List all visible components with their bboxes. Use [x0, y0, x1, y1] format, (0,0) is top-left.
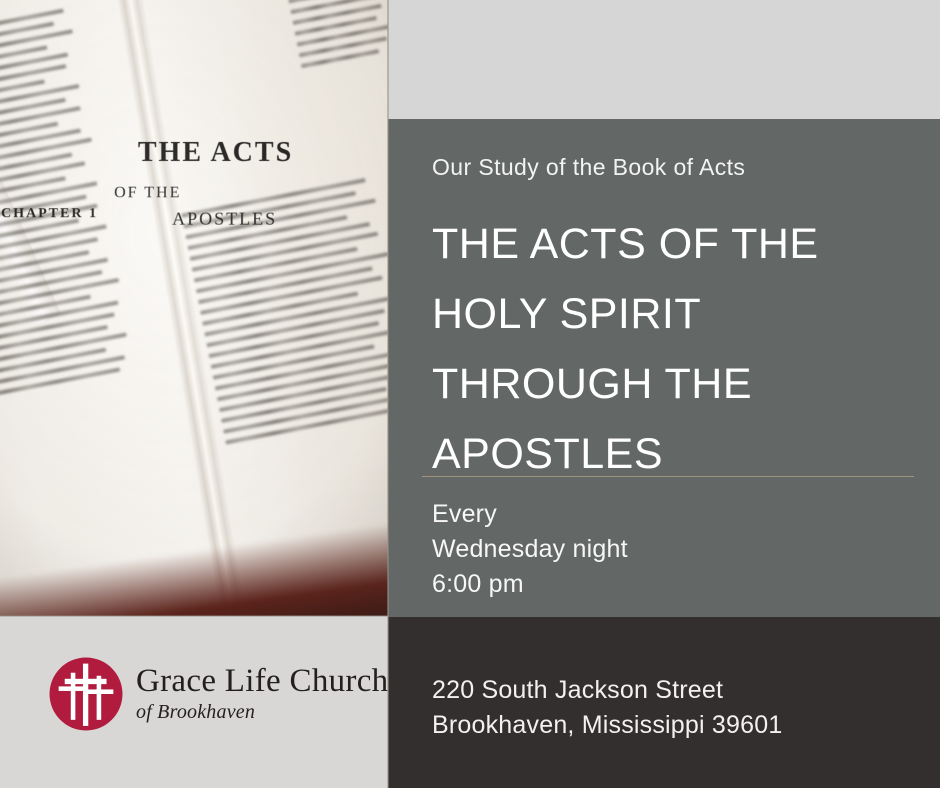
address-line-1: 220 South Jackson Street	[432, 673, 782, 708]
top-light-strip	[388, 0, 940, 119]
logo-panel: Grace Life Church of Brookhaven	[0, 616, 388, 788]
church-event-poster: THE ACTS OF THE APOSTLES CHAPTER 1 Our S…	[0, 0, 940, 788]
book-edge-shadow	[0, 495, 388, 617]
bible-photo: THE ACTS OF THE APOSTLES CHAPTER 1	[0, 0, 388, 617]
schedule-line-2: Wednesday night	[432, 532, 628, 567]
schedule-block: Every Wednesday night 6:00 pm	[432, 497, 628, 602]
logo-text-block: Grace Life Church of Brookhaven	[136, 665, 388, 724]
vertical-seam	[387, 0, 389, 788]
text-column-far-right	[277, 0, 388, 75]
photo-heading-apostles: APOSTLES	[172, 209, 277, 230]
address-panel: 220 South Jackson Street Brookhaven, Mis…	[388, 617, 940, 788]
bible-page-surface: THE ACTS OF THE APOSTLES CHAPTER 1	[0, 0, 388, 617]
horizontal-seam	[0, 615, 388, 617]
gold-divider	[422, 476, 914, 477]
schedule-line-1: Every	[432, 497, 628, 532]
subtitle: Our Study of the Book of Acts	[432, 154, 745, 181]
address-line-2: Brookhaven, Mississippi 39601	[432, 708, 782, 743]
headline-line-1: THE ACTS OF THE	[432, 209, 912, 279]
headline-line-2: HOLY SPIRIT	[432, 279, 912, 349]
photo-heading-the-acts: THE ACTS	[138, 137, 293, 169]
logo-tagline: of Brookhaven	[136, 701, 388, 724]
photo-heading-of-the: OF THE	[114, 184, 181, 202]
schedule-line-3: 6:00 pm	[432, 567, 628, 602]
page-title: THE ACTS OF THE HOLY SPIRIT THROUGH THE …	[432, 209, 912, 489]
photo-chapter-label: CHAPTER 1	[1, 206, 98, 222]
headline-line-4: APOSTLES	[432, 419, 912, 489]
main-content-panel: Our Study of the Book of Acts THE ACTS O…	[388, 119, 940, 617]
logo-church-name: Grace Life Church	[136, 665, 388, 698]
crimson-circle-three-crosses-icon	[48, 656, 124, 732]
address-block: 220 South Jackson Street Brookhaven, Mis…	[432, 673, 782, 743]
church-logo: Grace Life Church of Brookhaven	[48, 656, 388, 732]
headline-line-3: THROUGH THE	[432, 349, 912, 419]
